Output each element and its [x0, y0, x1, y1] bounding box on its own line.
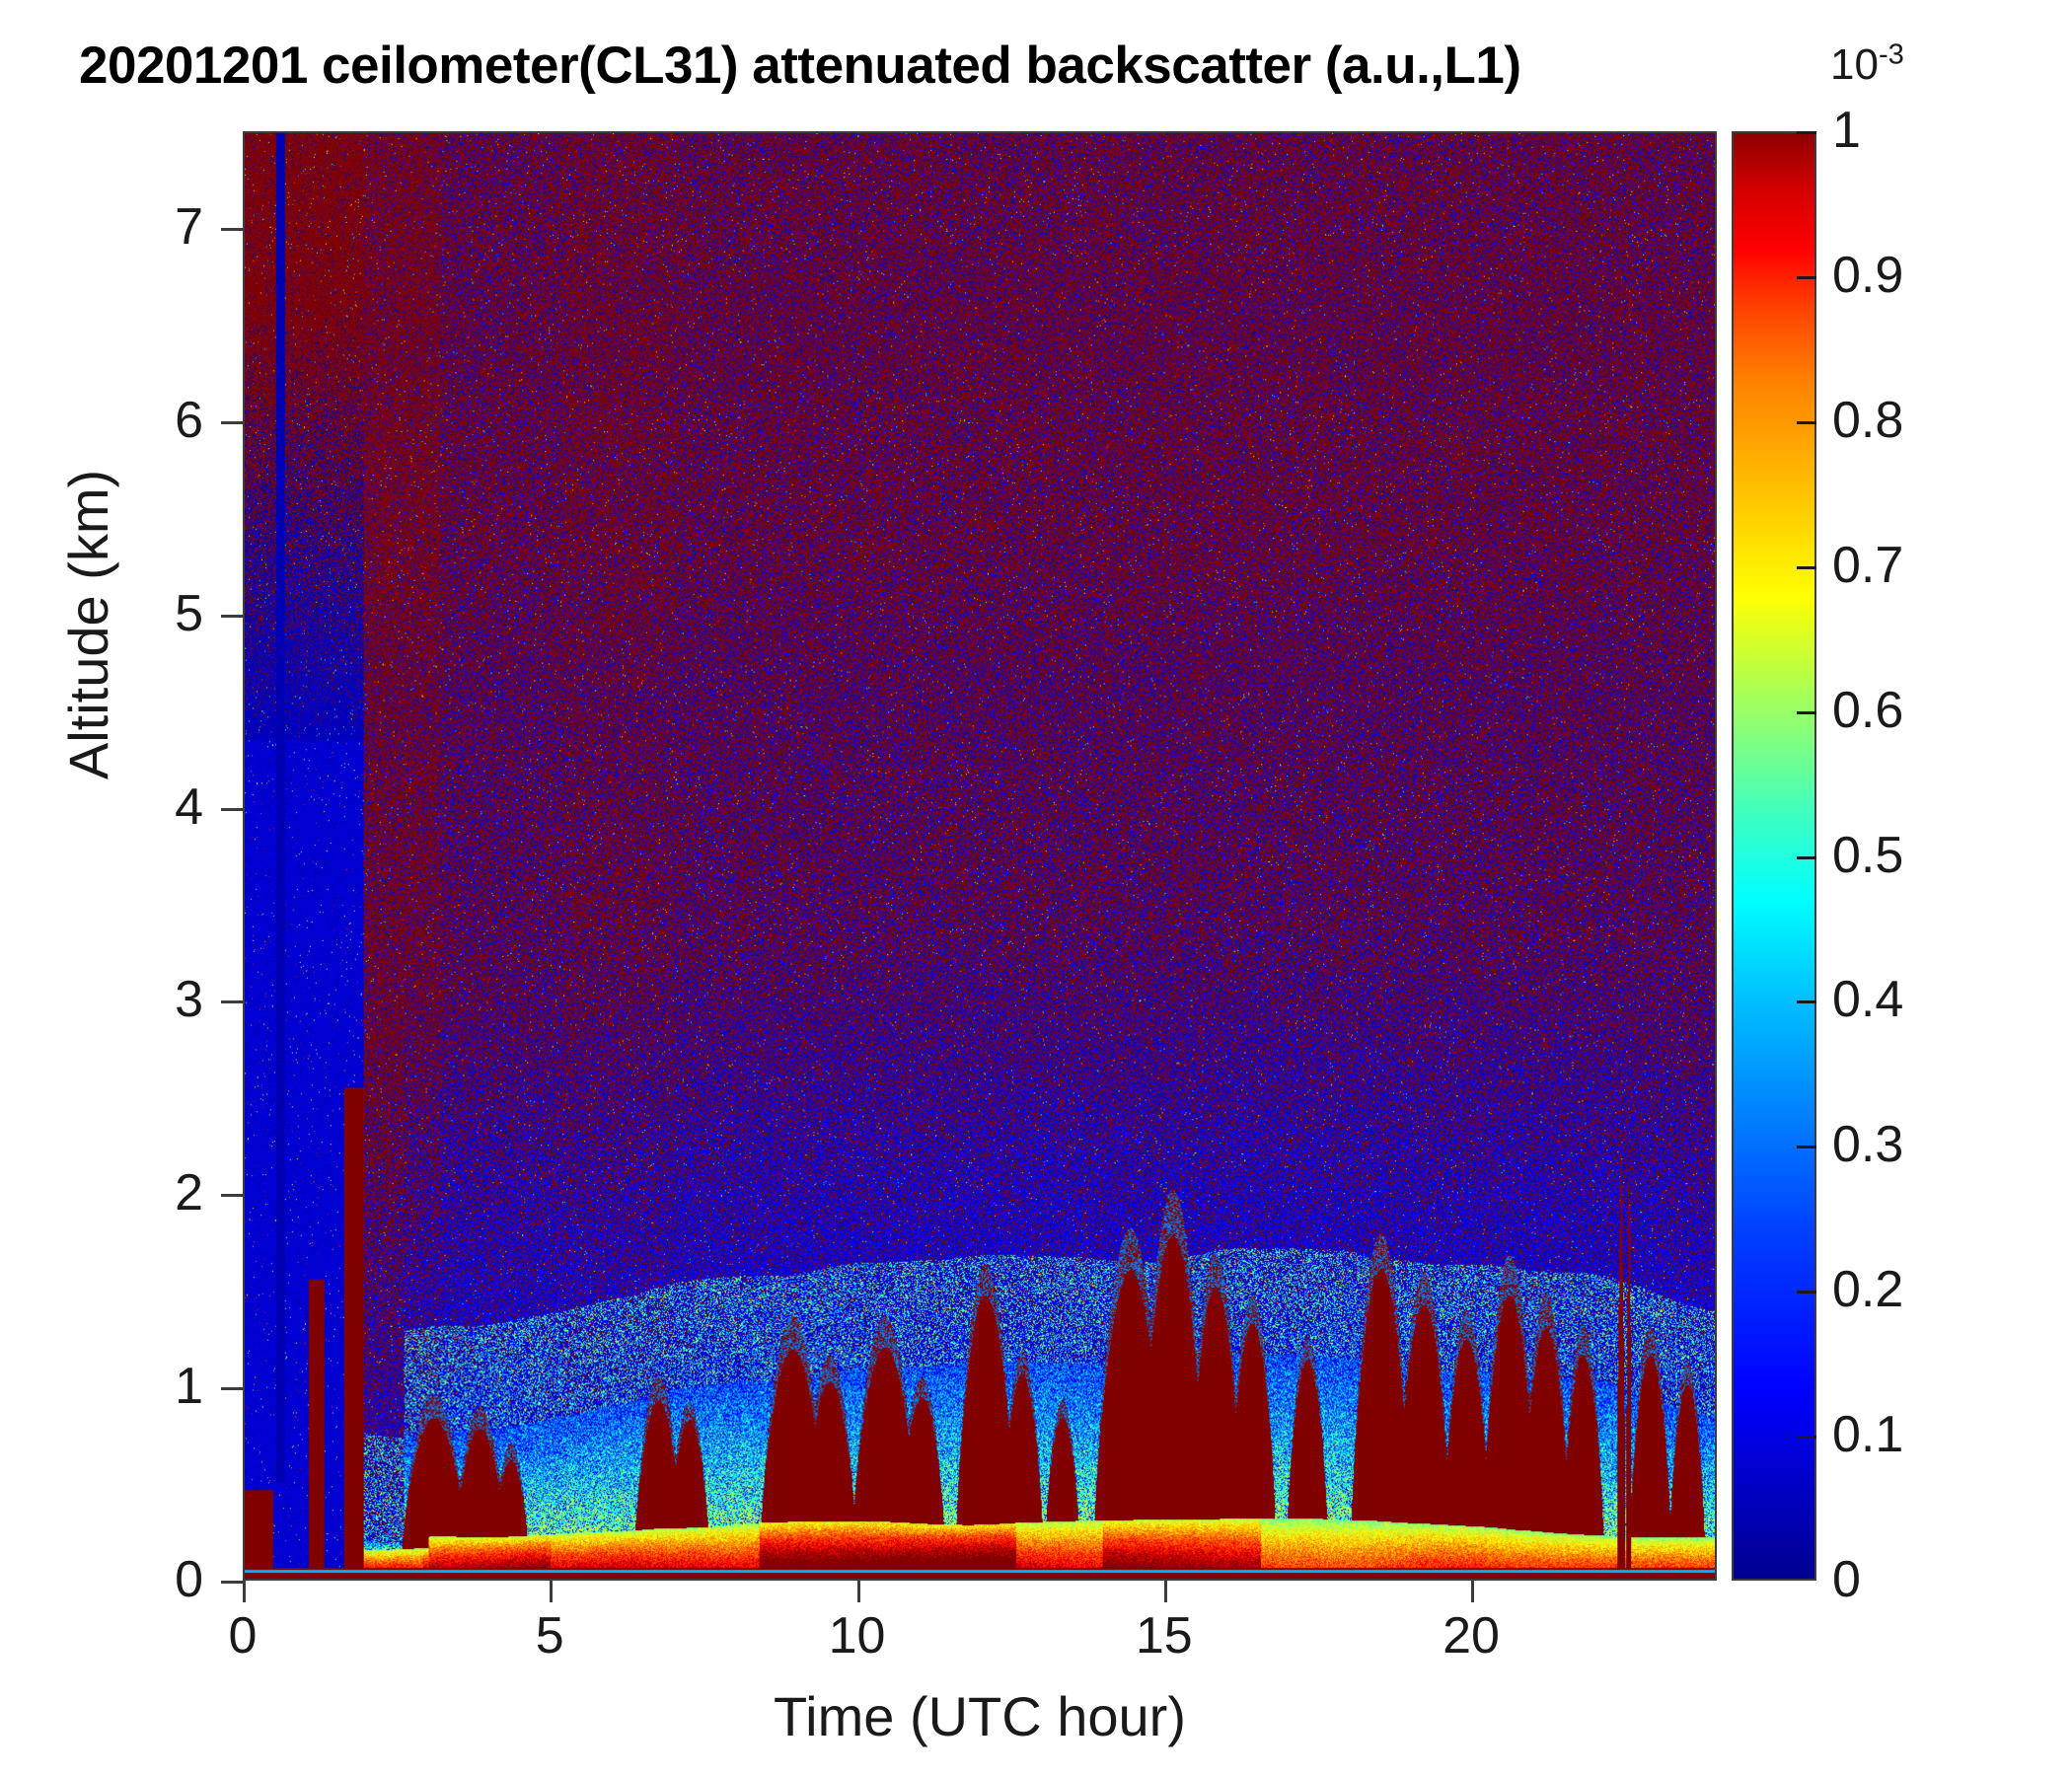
colorbar-exponent-base: 10: [1830, 40, 1879, 89]
x-tick-mark: [857, 1581, 860, 1602]
y-tick-mark: [221, 1387, 243, 1390]
y-tick-mark: [221, 228, 243, 231]
x-tick-label: 0: [174, 1610, 312, 1662]
figure-title: 20201201 ceilometer(CL31) attenuated bac…: [79, 39, 1521, 92]
colorbar-tick-mark: [1797, 276, 1816, 279]
colorbar-tick-label: 0: [1832, 1554, 1861, 1605]
backscatter-heatmap: [245, 133, 1715, 1579]
colorbar-tick-mark: [1797, 1436, 1816, 1439]
x-tick-label: 10: [788, 1610, 926, 1662]
y-tick-mark: [221, 1000, 243, 1003]
colorbar-tick-mark: [1797, 1146, 1816, 1148]
y-tick-mark: [221, 1581, 243, 1584]
y-tick-mark: [221, 421, 243, 424]
x-tick-label: 20: [1402, 1610, 1540, 1662]
colorbar-tick-label: 0.6: [1832, 685, 1903, 736]
colorbar-tick-mark: [1797, 856, 1816, 859]
colorbar-tick-label: 0.2: [1832, 1264, 1903, 1315]
colorbar-tick-label: 0.8: [1832, 395, 1903, 446]
plot-axes: [243, 131, 1717, 1581]
x-tick-mark: [1164, 1581, 1167, 1602]
y-tick-label: 7: [85, 201, 203, 253]
colorbar-tick-label: 0.4: [1832, 974, 1903, 1025]
y-tick-label: 1: [85, 1361, 203, 1412]
colorbar-tick-mark: [1797, 1000, 1816, 1003]
colorbar-tick-mark: [1797, 421, 1816, 424]
colorbar-tick-mark: [1797, 1291, 1816, 1294]
x-tick-mark: [1471, 1581, 1474, 1602]
colorbar-tick-label: 0.7: [1832, 540, 1903, 591]
figure-canvas: 20201201 ceilometer(CL31) attenuated bac…: [0, 0, 2072, 1776]
x-tick-mark: [243, 1581, 246, 1602]
y-tick-label: 3: [85, 974, 203, 1025]
x-tick-mark: [550, 1581, 553, 1602]
colorbar-tick-mark: [1797, 711, 1816, 714]
colorbar-tick-label: 0.5: [1832, 830, 1903, 881]
x-axis-title: Time (UTC hour): [243, 1689, 1717, 1744]
colorbar-tick-label: 0.1: [1832, 1409, 1903, 1460]
y-tick-label: 0: [85, 1554, 203, 1605]
colorbar-tick-label: 0.9: [1832, 250, 1903, 301]
colorbar-exponent-power: -3: [1879, 38, 1904, 70]
colorbar-tick-mark: [1797, 566, 1816, 569]
colorbar-tick-label: 0.3: [1832, 1119, 1903, 1170]
colorbar-tick-mark: [1797, 131, 1816, 134]
x-tick-label: 5: [481, 1610, 619, 1662]
colorbar-tick-label: 1: [1832, 105, 1861, 156]
y-axis-title: Altitude (km): [61, 348, 116, 901]
y-tick-label: 2: [85, 1167, 203, 1219]
y-tick-mark: [221, 615, 243, 618]
y-tick-mark: [221, 1194, 243, 1197]
x-tick-label: 15: [1095, 1610, 1233, 1662]
y-tick-mark: [221, 808, 243, 811]
colorbar-exponent-label: 10-3: [1830, 43, 1904, 87]
